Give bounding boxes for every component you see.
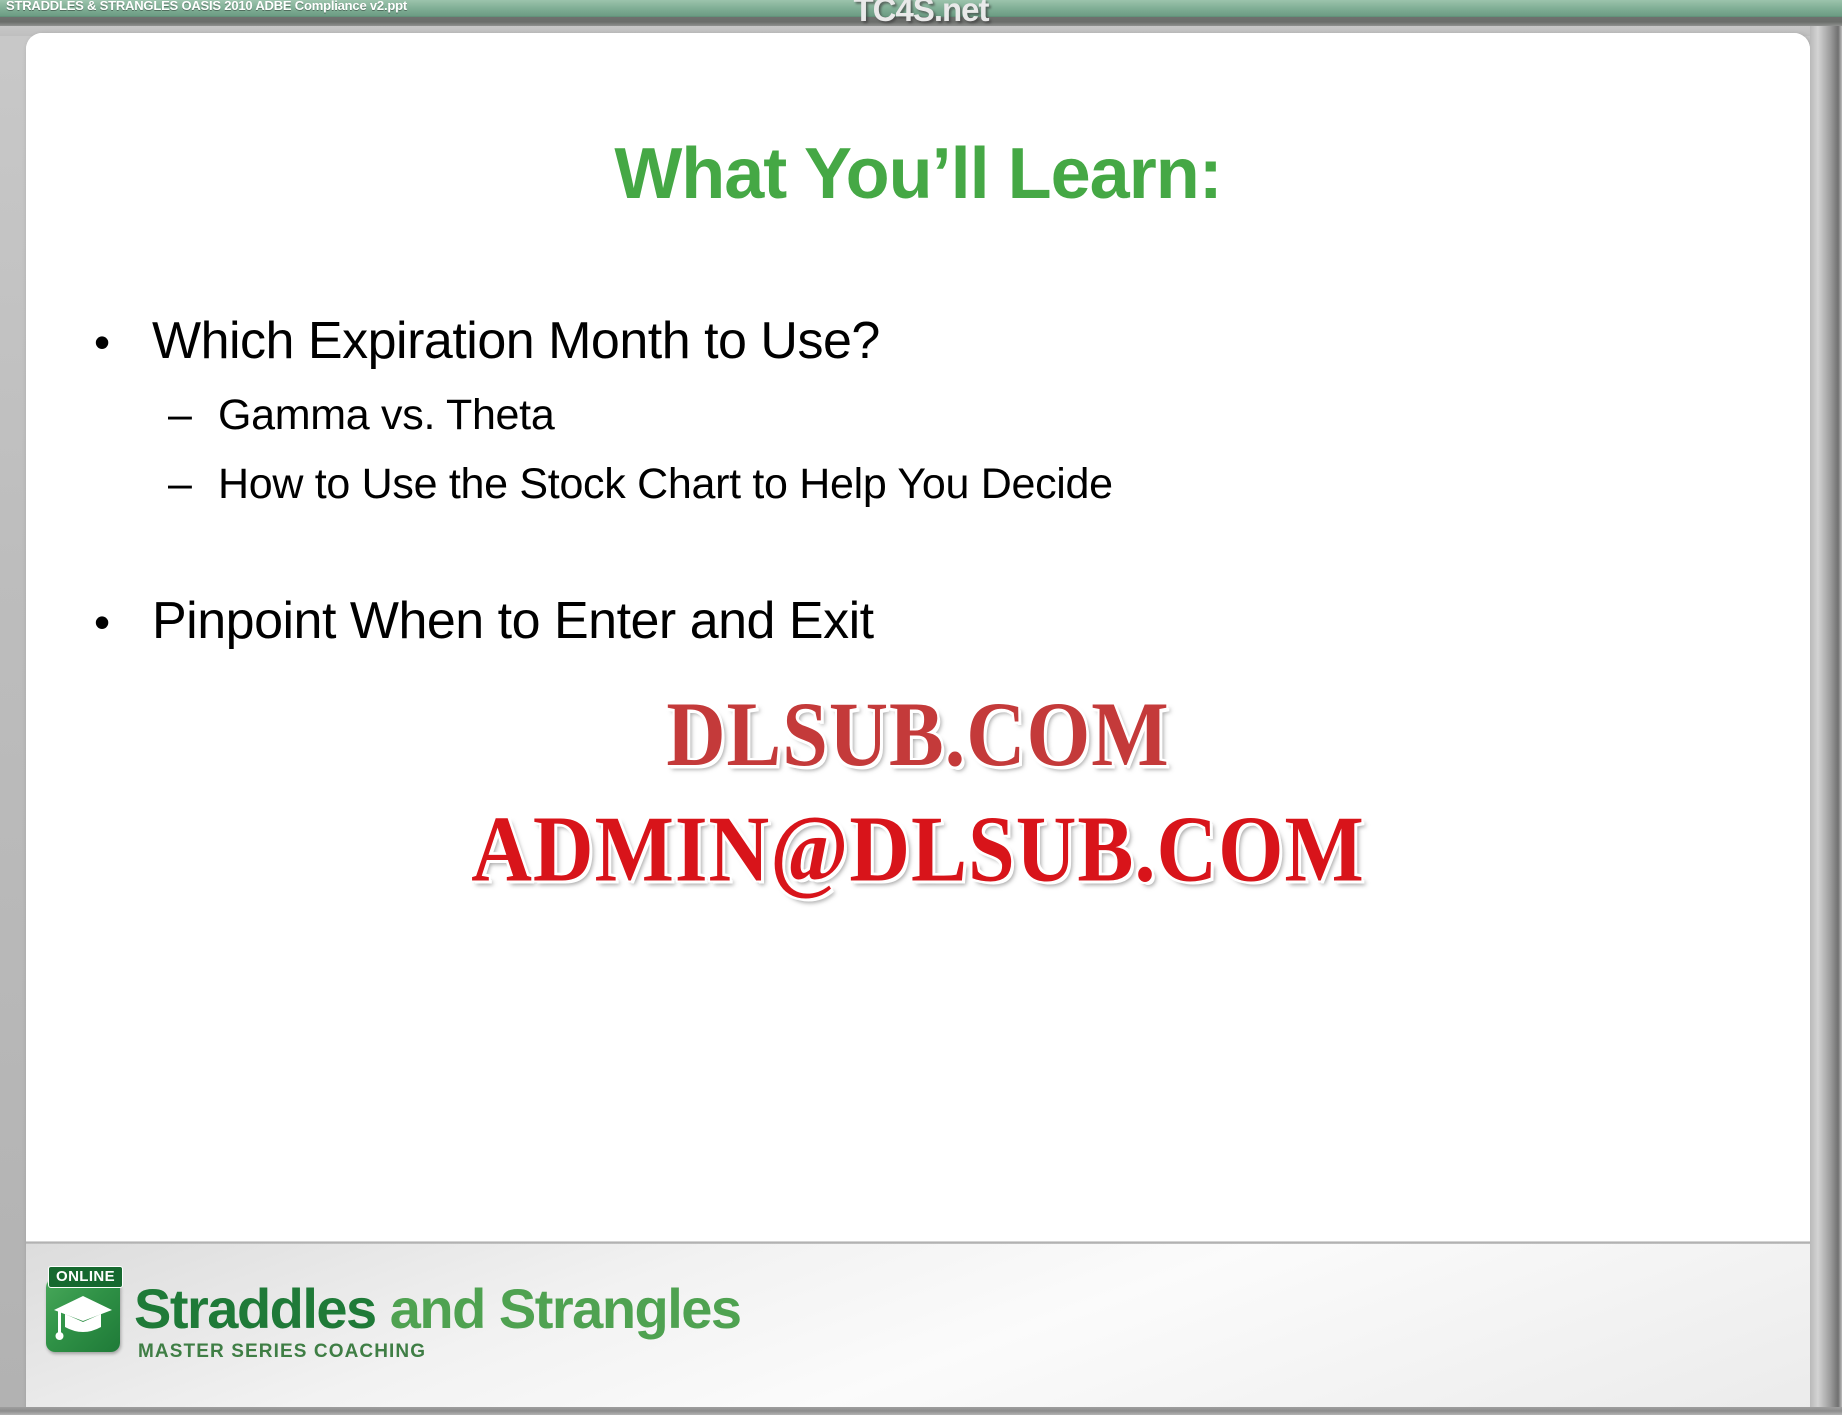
brand-title: Straddles and Strangles — [134, 1280, 741, 1339]
brand-words: Straddles and Strangles MASTER SERIES CO… — [134, 1266, 741, 1363]
window-right-frame — [1810, 26, 1842, 1415]
titlebar-shadow — [0, 17, 1842, 26]
online-badge: ONLINE — [48, 1266, 123, 1288]
graduation-cap-icon — [52, 1294, 114, 1340]
sub-bullet-label: Gamma vs. Theta — [218, 391, 554, 440]
presentation-window: STRADDLES & STRANGLES OASIS 2010 ADBE Co… — [0, 0, 1842, 1415]
brand-title-primary: Straddles — [134, 1277, 376, 1340]
sub-bullet-label: How to Use the Stock Chart to Help You D… — [218, 460, 1113, 509]
bullet-item: • Which Expiration Month to Use? — [94, 311, 880, 371]
slide-panel: What You’ll Learn: • Which Expiration Mo… — [26, 33, 1810, 1411]
sub-bullet-item: – How to Use the Stock Chart to Help You… — [168, 460, 1113, 509]
window-title: STRADDLES & STRANGLES OASIS 2010 ADBE Co… — [6, 0, 407, 13]
window-bottom-frame — [0, 1407, 1842, 1415]
brand-tagline: MASTER SERIES COACHING — [138, 1341, 741, 1363]
watermark-stamp-site: DLSUB.COM — [26, 682, 1810, 787]
bullet-label: Which Expiration Month to Use? — [152, 311, 880, 371]
bullet-marker-dash-icon: – — [168, 463, 218, 506]
sub-bullet-item: – Gamma vs. Theta — [168, 391, 554, 440]
bullet-item: • Pinpoint When to Enter and Exit — [94, 591, 874, 651]
bullet-marker-dot-icon: • — [94, 319, 152, 365]
logo-mark: ONLINE — [46, 1266, 120, 1352]
slide-footer: ONLINE Straddles and Strangles MASTER SE… — [26, 1244, 1810, 1411]
bullet-marker-dot-icon: • — [94, 599, 152, 645]
slide-title: What You’ll Learn: — [26, 133, 1810, 215]
bullet-label: Pinpoint When to Enter and Exit — [152, 591, 874, 651]
watermark-stamp-email: ADMIN@DLSUB.COM — [26, 795, 1810, 904]
bullet-marker-dash-icon: – — [168, 394, 218, 437]
brand-title-secondary: and Strangles — [376, 1277, 741, 1340]
slide-content-area: What You’ll Learn: • Which Expiration Mo… — [26, 33, 1810, 1243]
brand-logo: ONLINE Straddles and Strangles MASTER SE… — [46, 1266, 741, 1363]
window-titlebar: STRADDLES & STRANGLES OASIS 2010 ADBE Co… — [0, 0, 1842, 17]
